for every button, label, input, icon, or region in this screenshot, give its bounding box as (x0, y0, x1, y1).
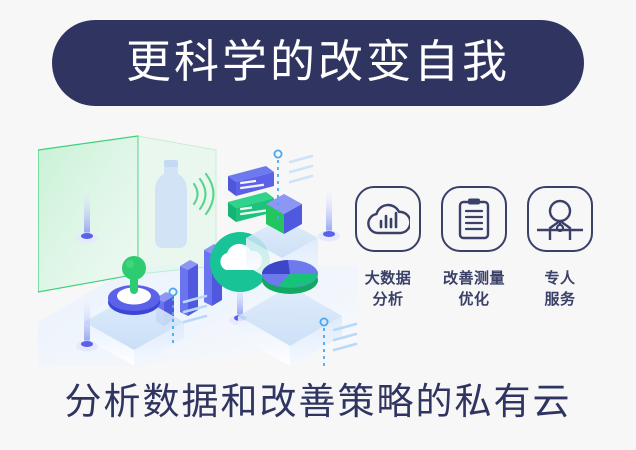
blue-tag-badge (228, 166, 274, 196)
tagline-text: 分析数据和改善策略的私有云 (0, 382, 636, 423)
feature-label-line2: 优化 (443, 290, 505, 311)
feature-label-line2: 分析 (365, 290, 412, 311)
feature-label-service: 专人 服务 (544, 269, 575, 310)
feature-list: 大数据 分析 改善测量 优化 (352, 186, 596, 331)
pin-marker (318, 182, 340, 242)
illustration (38, 126, 358, 366)
cloud-bar-chart-icon (355, 186, 421, 252)
feature-label-measurement: 改善测量 优化 (443, 269, 505, 310)
feature-label-big-data: 大数据 分析 (365, 269, 412, 310)
feature-item-measurement: 改善测量 优化 (438, 186, 510, 310)
feature-label-line1: 改善测量 (443, 269, 505, 290)
feature-item-service: 专人 服务 (524, 186, 596, 310)
support-person-icon (527, 186, 593, 252)
headline-banner: 更科学的改变自我 (52, 20, 584, 106)
feature-item-big-data: 大数据 分析 (352, 186, 424, 310)
promo-poster: 更科学的改变自我 (0, 0, 636, 450)
feature-label-line1: 大数据 (365, 269, 412, 290)
clipboard-icon (441, 186, 507, 252)
headline-text: 更科学的改变自我 (126, 39, 510, 87)
feature-label-line2: 服务 (544, 290, 575, 311)
feature-label-line1: 专人 (544, 269, 575, 290)
